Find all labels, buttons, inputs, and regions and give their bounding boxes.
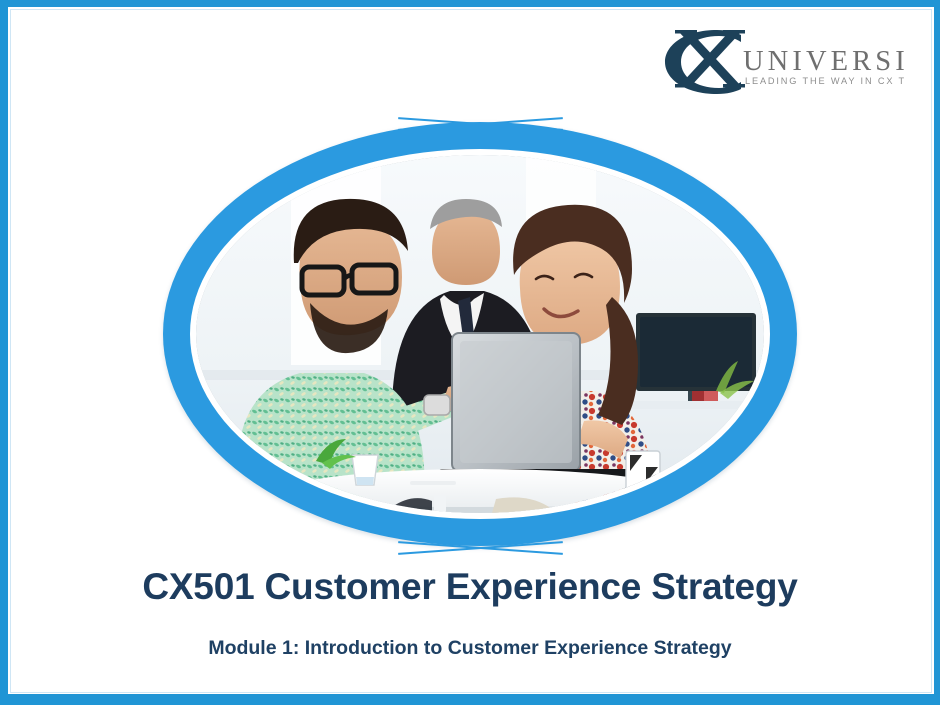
logo-x-serif-br <box>723 84 745 88</box>
photo-pen <box>410 481 456 485</box>
hero-photo <box>196 155 764 513</box>
cx-monogram-icon <box>665 30 745 94</box>
ring-cross-bottom-decoration <box>398 538 563 558</box>
slide-title: CX501 Customer Experience Strategy <box>8 566 932 608</box>
photo-wristwatch-icon <box>424 395 450 415</box>
logo-x-serif-tr <box>723 30 745 34</box>
hero-photo-artwork <box>196 155 764 513</box>
logo-wordmark: UNIVERSITY <box>743 46 905 77</box>
photo-paper-cup <box>352 455 378 485</box>
title-slide: UNIVERSITY LEADING THE WAY IN CX TRAININ… <box>0 0 940 705</box>
photo-tablet-device <box>452 333 580 471</box>
photo-red-book <box>692 391 718 401</box>
slide-border-right <box>934 0 940 705</box>
photo-table-leg <box>434 495 446 513</box>
slide-subtitle: Module 1: Introduction to Customer Exper… <box>8 637 932 660</box>
slide-border-top <box>0 0 940 7</box>
slide-border-bottom <box>0 694 940 705</box>
logo-x-serif-bl <box>675 84 697 88</box>
cx-university-logo: UNIVERSITY LEADING THE WAY IN CX TRAININ… <box>655 18 905 96</box>
logo-x-serif-tl <box>675 30 697 34</box>
slide-border-left <box>0 0 8 705</box>
logo-tagline: LEADING THE WAY IN CX TRAINING <box>745 76 905 86</box>
logo-artwork: UNIVERSITY LEADING THE WAY IN CX TRAININ… <box>655 18 905 96</box>
hero-photo-block <box>163 108 797 560</box>
